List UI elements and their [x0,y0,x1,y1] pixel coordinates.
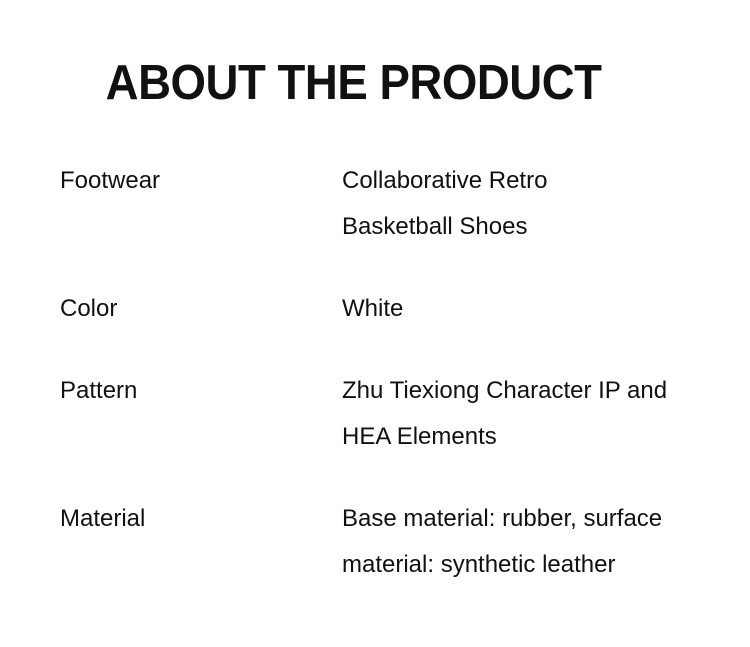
spec-value-footwear: Collaborative Retro Basketball Shoes [342,158,720,250]
spec-label-color: Color [60,286,342,332]
product-spec-table: Footwear Collaborative Retro Basketball … [60,158,720,588]
spec-row-color: Color White [60,286,720,332]
product-details-panel: ABOUT THE PRODUCT Footwear Collaborative… [0,0,750,647]
spec-label-footwear: Footwear [60,158,342,204]
spec-label-material: Material [60,496,342,542]
spec-value-material: Base material: rubber, surface material:… [342,496,720,588]
spec-value-line: Zhu Tiexiong Character IP and [342,368,720,414]
spec-value-line: Collaborative Retro [342,158,720,204]
spec-value-line: HEA Elements [342,414,720,460]
spec-label-pattern: Pattern [60,368,342,414]
spec-row-footwear: Footwear Collaborative Retro Basketball … [60,158,720,250]
page-title: ABOUT THE PRODUCT [106,58,602,108]
spec-value-line: Basketball Shoes [342,204,720,250]
spec-value-line: White [342,286,720,332]
spec-row-pattern: Pattern Zhu Tiexiong Character IP and HE… [60,368,720,460]
spec-value-pattern: Zhu Tiexiong Character IP and HEA Elemen… [342,368,720,460]
spec-value-color: White [342,286,720,332]
spec-value-line: Base material: rubber, surface [342,496,720,542]
spec-row-material: Material Base material: rubber, surface … [60,496,720,588]
page-title-container: ABOUT THE PRODUCT [0,58,708,108]
spec-value-line: material: synthetic leather [342,542,720,588]
